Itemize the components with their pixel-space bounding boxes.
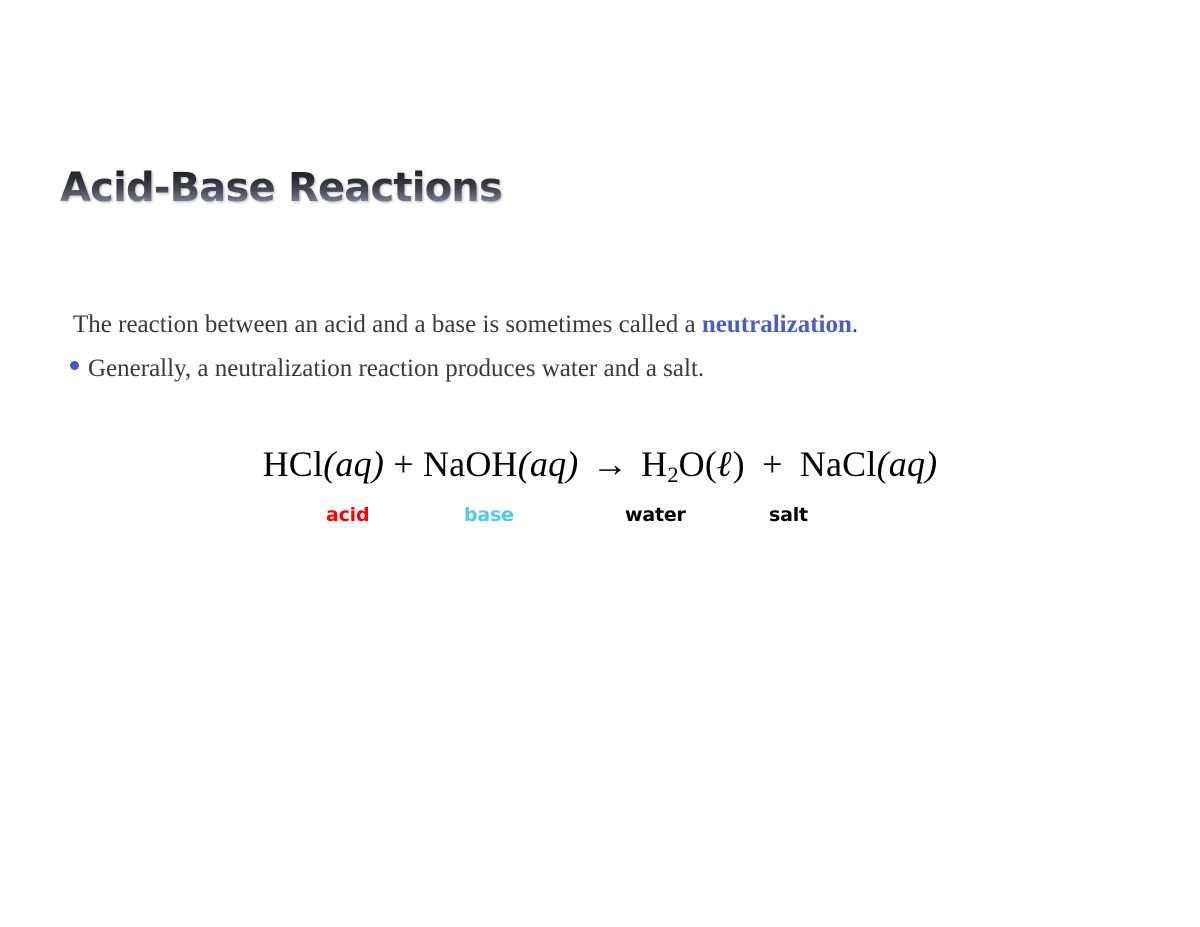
product-2-state: (aq) [877,444,938,484]
chemical-equation: HCl(aq) + NaOH(aq) → H2O(ℓ) + NaCl(aq) [0,443,1200,485]
product-2-formula: NaCl [800,444,877,484]
product-1-state-close: ) [733,444,745,484]
reactant-1-formula: HCl [263,444,324,484]
equation-plus-2: + [762,444,783,484]
product-1-subscript: 2 [667,462,678,487]
body-text-block: The reaction between an acid and a base … [70,312,1150,381]
product-1-state-symbol: ℓ [717,443,733,485]
equation-labels-row: acid base water salt [0,506,1200,532]
label-base: base [464,506,514,526]
intro-text-before: The reaction between an acid and a base … [73,311,702,338]
reactant-2-state: (aq) [518,444,579,484]
keyword-neutralization: neutralization [702,311,852,338]
bullet-item-text: Generally, a neutralization reaction pro… [88,356,704,381]
reaction-arrow-icon: → [588,444,632,484]
equation-plus-1: + [393,444,414,484]
product-1-state-open: ( [705,444,717,484]
reactant-2-formula: NaOH [423,444,518,484]
slide-canvas: Acid-Base Reactions The reaction between… [0,0,1200,927]
label-water: water [625,506,686,526]
bullet-dot-icon [70,361,79,370]
label-acid: acid [326,506,369,526]
intro-text-after: . [852,311,858,338]
page-title: Acid-Base Reactions [60,168,502,208]
reactant-1-state: (aq) [323,444,384,484]
body-line-intro: The reaction between an acid and a base … [73,312,1150,337]
product-1-element-o: O [679,444,705,484]
product-1-element-h: H [641,444,667,484]
body-line-bullet: Generally, a neutralization reaction pro… [70,356,1150,381]
label-salt: salt [769,506,808,526]
